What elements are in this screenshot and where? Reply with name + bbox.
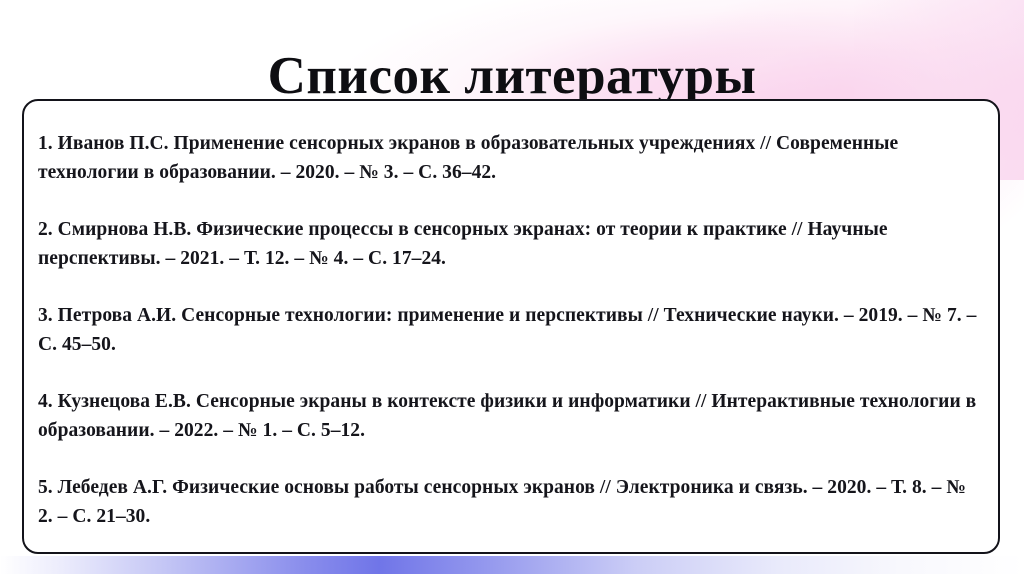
footer-gradient-bar bbox=[0, 556, 1024, 574]
list-item: 3. Петрова А.И. Сенсорные технологии: пр… bbox=[38, 302, 978, 359]
list-item: 5. Лебедев А.Г. Физические основы работы… bbox=[38, 474, 978, 531]
references-panel: 1. Иванов П.С. Применение сенсорных экра… bbox=[22, 99, 1000, 554]
list-item: 4. Кузнецова Е.В. Сенсорные экраны в кон… bbox=[38, 388, 978, 445]
list-item: 1. Иванов П.С. Применение сенсорных экра… bbox=[38, 130, 978, 187]
list-item: 2. Смирнова Н.В. Физические процессы в с… bbox=[38, 216, 978, 273]
page-title: Список литературы bbox=[0, 46, 1024, 106]
references-list: 1. Иванов П.С. Применение сенсорных экра… bbox=[38, 130, 978, 531]
slide-canvas: Список литературы 1. Иванов П.С. Примене… bbox=[0, 0, 1024, 574]
